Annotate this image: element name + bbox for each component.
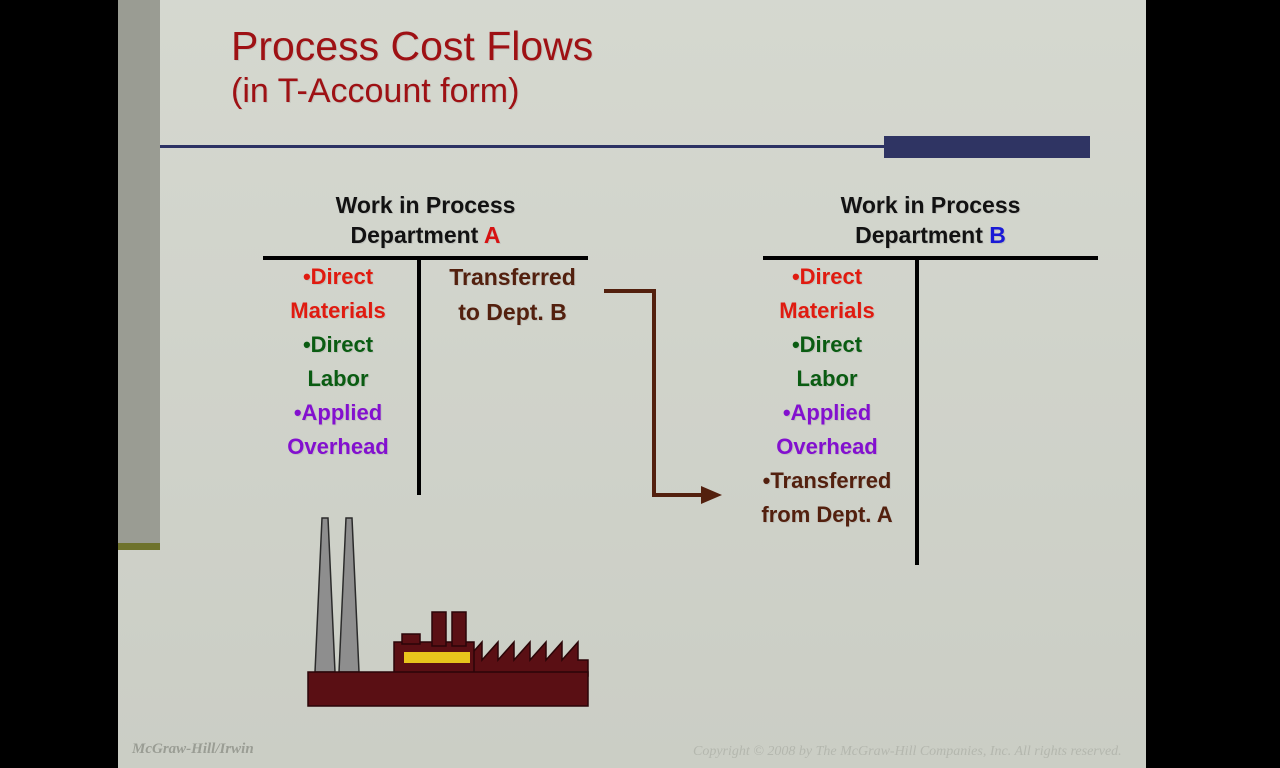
- t-account-a-center-divider: [417, 260, 421, 495]
- t-account-b-center-divider: [915, 260, 919, 565]
- t-item-line-2: Materials: [263, 294, 413, 328]
- t-account-a-heading: Work in Process Department A: [263, 190, 588, 250]
- t-item-direct-materials: •Direct Materials: [263, 260, 413, 328]
- t-item-line-1: Direct: [311, 264, 373, 289]
- t-item-transferred-from-dept-a: •Transferred from Dept. A: [741, 464, 913, 532]
- t-account-b-dept-label: Department: [855, 222, 989, 248]
- t-item-line-1: Transferred: [425, 260, 600, 295]
- t-account-b-dept-letter: B: [989, 222, 1006, 248]
- screen: Process Cost Flows (in T-Account form) W…: [0, 0, 1280, 768]
- t-item-line-1: Direct: [311, 332, 373, 357]
- t-item-applied-overhead: •Applied Overhead: [263, 396, 413, 464]
- t-account-a-dept-letter: A: [484, 222, 501, 248]
- footer-copyright: Copyright © 2008 by The McGraw-Hill Comp…: [693, 744, 1122, 760]
- presentation-slide: Process Cost Flows (in T-Account form) W…: [118, 0, 1146, 768]
- t-item-line-2: Labor: [263, 362, 413, 396]
- t-account-b-heading: Work in Process Department B: [763, 190, 1098, 250]
- bullet-icon: •: [294, 400, 302, 425]
- t-item-direct-materials: •Direct Materials: [741, 260, 913, 328]
- header-accent-block: [884, 136, 1090, 158]
- t-item-line-1: Direct: [800, 264, 862, 289]
- slide-side-band: [118, 0, 160, 543]
- t-item-line-1: Applied: [791, 400, 872, 425]
- t-account-a-title: Work in Process: [336, 192, 516, 218]
- t-item-direct-labor: •Direct Labor: [263, 328, 413, 396]
- bullet-icon: •: [792, 264, 800, 289]
- bullet-icon: •: [303, 264, 311, 289]
- title-line-1: Process Cost Flows: [231, 22, 1091, 70]
- t-account-b-debit-column: •Direct Materials •Direct Labor •Applied…: [741, 260, 913, 532]
- t-item-transferred-to-dept-b: Transferred to Dept. B: [425, 260, 600, 330]
- bullet-icon: •: [783, 400, 791, 425]
- footer-brand: McGraw-Hill/Irwin: [132, 741, 254, 758]
- page-title: Process Cost Flows (in T-Account form): [231, 22, 1091, 112]
- bullet-icon: •: [792, 332, 800, 357]
- transfer-arrow-icon: [598, 280, 728, 510]
- t-item-line-2: Labor: [741, 362, 913, 396]
- t-account-department-b: Work in Process Department B •Direct Mat…: [763, 190, 1098, 570]
- t-account-b-title: Work in Process: [841, 192, 1021, 218]
- t-item-line-1: Applied: [302, 400, 383, 425]
- t-item-line-2: Overhead: [741, 430, 913, 464]
- bullet-icon: •: [303, 332, 311, 357]
- slide-side-band-accent: [118, 543, 160, 550]
- t-item-line-2: from Dept. A: [741, 498, 913, 532]
- t-item-applied-overhead: •Applied Overhead: [741, 396, 913, 464]
- t-account-a-credit-column: Transferred to Dept. B: [425, 260, 600, 330]
- t-account-a-debit-column: •Direct Materials •Direct Labor •Applied…: [263, 260, 413, 464]
- t-item-line-2: to Dept. B: [425, 295, 600, 330]
- t-item-direct-labor: •Direct Labor: [741, 328, 913, 396]
- t-item-line-2: Overhead: [263, 430, 413, 464]
- factory-illustration-icon: [306, 512, 611, 712]
- t-item-line-1: Direct: [800, 332, 862, 357]
- title-line-2: (in T-Account form): [231, 70, 1091, 112]
- t-account-department-a: Work in Process Department A •Direct Mat…: [263, 190, 588, 500]
- t-item-line-1: Transferred: [770, 468, 891, 493]
- t-account-a-dept-label: Department: [351, 222, 484, 248]
- t-item-line-2: Materials: [741, 294, 913, 328]
